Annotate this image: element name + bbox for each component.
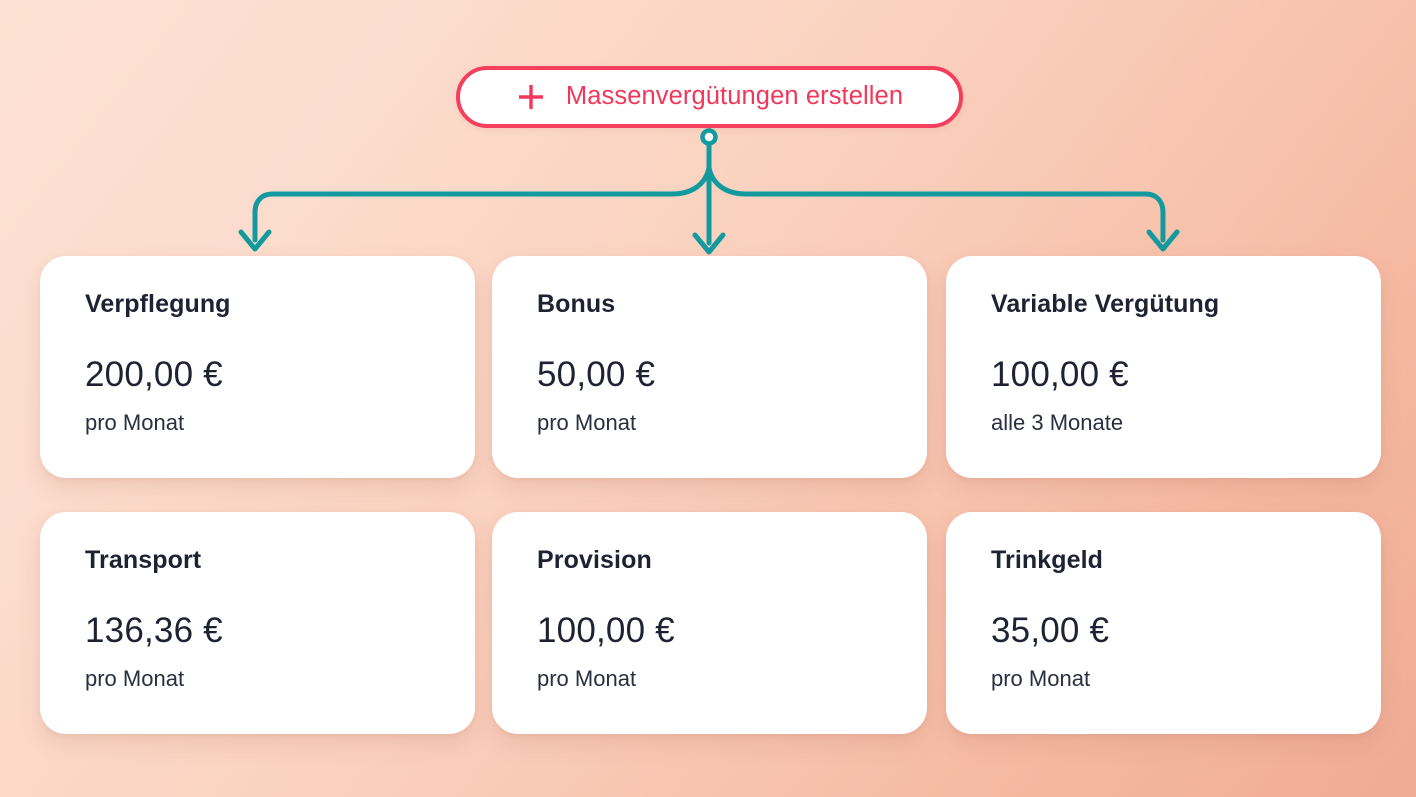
compensation-card[interactable]: Variable Vergütung 100,00 € alle 3 Monat… <box>946 256 1381 478</box>
card-amount: 100,00 € <box>991 357 1381 392</box>
compensation-card[interactable]: Bonus 50,00 € pro Monat <box>492 256 927 478</box>
compensation-card[interactable]: Provision 100,00 € pro Monat <box>492 512 927 734</box>
compensation-card[interactable]: Trinkgeld 35,00 € pro Monat <box>946 512 1381 734</box>
card-period: pro Monat <box>85 668 475 690</box>
connector-branch-left <box>255 168 709 240</box>
compensation-card[interactable]: Transport 136,36 € pro Monat <box>40 512 475 734</box>
card-title: Trinkgeld <box>991 548 1381 573</box>
card-period: pro Monat <box>991 668 1381 690</box>
card-period: pro Monat <box>85 412 475 434</box>
card-amount: 200,00 € <box>85 357 475 392</box>
card-title: Variable Vergütung <box>991 292 1381 317</box>
compensation-card[interactable]: Verpflegung 200,00 € pro Monat <box>40 256 475 478</box>
card-title: Verpflegung <box>85 292 475 317</box>
circle-node-icon <box>703 131 716 144</box>
card-period: pro Monat <box>537 668 927 690</box>
card-amount: 136,36 € <box>85 613 475 648</box>
card-title: Bonus <box>537 292 927 317</box>
card-amount: 100,00 € <box>537 613 927 648</box>
connector-branch-right <box>709 168 1163 240</box>
plus-icon <box>516 82 546 112</box>
card-period: alle 3 Monate <box>991 412 1381 434</box>
arrowhead-left <box>241 232 269 249</box>
card-title: Provision <box>537 548 927 573</box>
card-title: Transport <box>85 548 475 573</box>
arrowhead-right <box>1149 232 1177 249</box>
arrowhead-center <box>695 235 723 252</box>
card-amount: 50,00 € <box>537 357 927 392</box>
create-mass-compensation-label: Massenvergütungen erstellen <box>566 84 903 110</box>
compensation-overview: Massenvergütungen erstellen Verpflegung … <box>0 0 1416 797</box>
card-amount: 35,00 € <box>991 613 1381 648</box>
create-mass-compensation-button[interactable]: Massenvergütungen erstellen <box>456 66 963 128</box>
card-period: pro Monat <box>537 412 927 434</box>
